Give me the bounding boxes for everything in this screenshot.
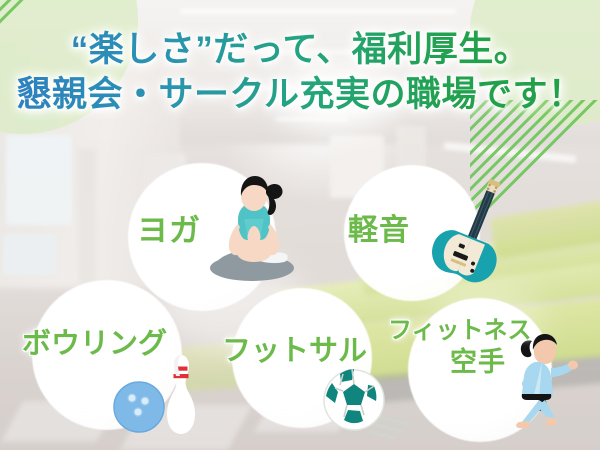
activity-label-keion: 軽音 — [348, 205, 410, 249]
promo-banner: “楽しさ”だって、福利厚生。 懇親会・サークル充実の職場です！ — [0, 0, 600, 450]
activity-label-futsal: フットサル — [222, 327, 367, 369]
soccer-ball-icon — [322, 358, 414, 442]
activity-label-bowling: ボウリング — [22, 320, 167, 362]
headline-line-2: 懇親会・サークル充実の職場です！ — [0, 75, 600, 114]
yoga-figure-icon — [200, 172, 308, 290]
activity-label-karate: 空手 — [450, 340, 506, 379]
bowling-ball-pin-icon — [110, 352, 210, 436]
headline-line-1: “楽しさ”だって、福利厚生。 — [0, 30, 600, 69]
headline: “楽しさ”だって、福利厚生。 懇親会・サークル充実の職場です！ — [0, 30, 600, 114]
electric-guitar-icon — [432, 176, 518, 288]
karate-figure-icon — [505, 332, 579, 436]
activity-label-yoga: ヨガ — [137, 205, 201, 250]
